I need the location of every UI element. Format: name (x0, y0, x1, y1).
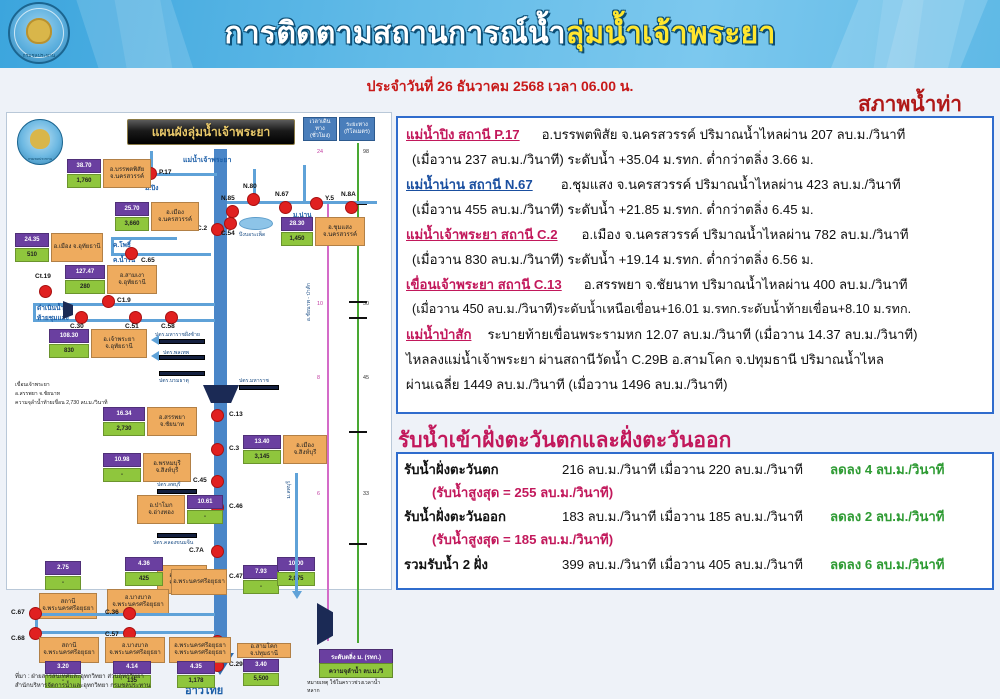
capacity-box: 3,660 (115, 217, 149, 231)
scale-tick (349, 431, 367, 433)
station-marker-ct19[interactable] (39, 285, 52, 298)
station-marker-c13[interactable] (211, 409, 224, 422)
dam-note-line3: ความจุลำน้ำท้ายเขื่อน 2,730 ลบ.ม./วินาที (15, 399, 108, 407)
station-name-c2[interactable]: แม่น้ำเจ้าพระยา สถานี C.2 (406, 227, 558, 242)
legend-capacity: ความจุลำน้ำ ลบ.ม./วิ (319, 663, 393, 678)
station-marker-c67[interactable] (29, 607, 42, 620)
capacity-box: - (45, 576, 81, 590)
intake-row-2-delta: ลดลง 6 ลบ.ม./วินาที (830, 554, 944, 575)
map-seal-label: กรมชลประทาน (18, 156, 62, 162)
capacity-box: 830 (49, 344, 89, 358)
level-box: 10.61 (187, 495, 223, 509)
flow-label: ดำเนินน้ำ (37, 303, 64, 313)
gate-label: ปตร.มหาราช (239, 377, 269, 385)
station-marker-c7a[interactable] (211, 545, 224, 558)
station-label-n85: N.85 (221, 195, 235, 202)
source-note: ที่มา : ฝ่ายสารสนเทศและอุทกวิทยา ส่วนอุท… (15, 673, 151, 690)
basin-schematic-panel: กรมชลประทาน แผนผังลุ่มน้ำเจ้าพระยา เวลาเ… (6, 112, 392, 590)
capacity-box: 5,500 (243, 673, 279, 686)
flow-entry-3-line1: เขื่อนเจ้าพระยา สถานี C.13อ.สรรพยา จ.ชัย… (406, 274, 908, 295)
scale-time-value: 6 (317, 491, 320, 497)
station-label-c67: C.67 (11, 609, 25, 616)
irrigation-gate (239, 385, 279, 390)
station-marker-c54[interactable] (224, 217, 237, 230)
scale-time-value: 10 (317, 301, 323, 307)
map-seal-icon: กรมชลประทาน (17, 119, 63, 165)
station-marker-c45[interactable] (211, 475, 224, 488)
flow-line (33, 303, 36, 321)
level-box: 25.70 (115, 202, 149, 216)
pasak-line3: ผ่านเฉลี่ย 1449 ลบ.ม./วินาที (เมื่อวาน 1… (406, 374, 727, 395)
scale-tick (349, 543, 367, 545)
capacity-box: 3,145 (243, 450, 281, 464)
capacity-box: 280 (65, 280, 105, 294)
gate-label: ปตร.มหาราชฝั่งซ้าย (155, 331, 200, 339)
pasak-line1: แม่น้ำป่าสักระบายท้ายเขื่อนพระรามหก 12.0… (406, 324, 917, 345)
flow-arrow-icon (151, 335, 159, 345)
flow-entry-2-line2: (เมื่อวาน 830 ลบ.ม./วินาที) ระดับน้ำ +19… (412, 249, 814, 270)
capacity-box: 425 (125, 572, 163, 586)
flow-entry-3-detail: อ.สรรพยา จ.ชัยนาท ปริมาณน้ำไหลผ่าน 400 ล… (584, 277, 908, 292)
flow-entry-0-line2: (เมื่อวาน 237 ลบ.ม./วินาที) ระดับน้ำ +35… (412, 149, 814, 170)
station-marker-n80[interactable] (247, 193, 260, 206)
lake-label: บึงบอระเพ็ด (239, 231, 265, 239)
dateline: ประจำวันที่ 26 ธันวาคม 2568 เวลา 06.00 น… (0, 76, 1000, 98)
intake-section-box: รับน้ำฝั่งตะวันตก 216 ลบ.ม./วินาที เมื่อ… (396, 452, 994, 590)
flow-line (295, 473, 298, 593)
place-box: อ.เมือง จ.นครสวรรค์ (151, 202, 199, 231)
main-river-label: แม่น้ำเจ้าพระยา (183, 155, 231, 166)
station-label-c65: C.65 (141, 257, 155, 264)
source-line-2: สำนักบริหารจัดการน้ำและอุทกวิทยา กรมชลปร… (15, 682, 151, 691)
flow-arrow-icon (151, 351, 159, 361)
intake-row-2-label: รวมรับน้ำ 2 ฝั่ง (404, 554, 488, 575)
station-label-p17: P.17 (159, 169, 172, 176)
level-box: 4.36 (125, 557, 163, 571)
pasak-detail: ระบายท้ายเขื่อนพระรามหก 12.07 ลบ.ม./วินา… (487, 327, 917, 342)
station-name-pasak[interactable]: แม่น้ำป่าสัก (406, 327, 471, 342)
place-box: อ.เมือง จ.อุทัยธานี (51, 233, 103, 262)
capacity-box: - (187, 510, 223, 524)
place-box: อ.บางบาล จ.พระนครศรีอยุธยา (105, 637, 165, 663)
branch-vertical-label: อ.ชัยนาท - ป่าสัก (305, 283, 313, 321)
flow-entry-1-detail: อ.ชุมแสง จ.นครสวรรค์ ปริมาณน้ำไหลผ่าน 42… (561, 177, 901, 192)
place-box: อ.เจ้าพระยา จ.อุทัยธานี (91, 329, 147, 358)
station-marker-y5[interactable] (310, 197, 323, 210)
page-title-highlight: ลุ่มน้ำเจ้าพระยา (566, 17, 776, 50)
intake-row-1-value: 183 ลบ.ม./วินาที เมื่อวาน 185 ลบ.ม./วินา… (562, 506, 803, 527)
intake-row-2-value: 399 ลบ.ม./วินาที เมื่อวาน 405 ลบ.ม./วินา… (562, 554, 803, 575)
gate-label: ปตร.พลเทพ (163, 349, 189, 357)
station-marker-n85[interactable] (226, 205, 239, 218)
scale-distance-value: 50 (363, 301, 369, 307)
legend-travel-time: เวลาเดินทาง (ชั่วโมง) (303, 117, 337, 141)
scale-time-value: 24 (317, 149, 323, 155)
legend-note: หมายเหตุ ใช้ในคราวช่วงเวลาน้ำหลาก (307, 679, 391, 695)
level-box: 24.35 (15, 233, 49, 247)
dam-note-line1: เขื่อนเจ้าพระยา (15, 381, 50, 389)
capacity-box: 1,450 (281, 232, 313, 246)
station-marker-n67[interactable] (279, 201, 292, 214)
station-label-n67: N.67 (275, 191, 289, 198)
station-label-c68: C.68 (11, 635, 25, 642)
legend-dam-symbol (317, 603, 333, 645)
place-box: อ.ป่าโมก จ.อ่างทอง (137, 495, 185, 524)
station-name-c13[interactable]: เขื่อนเจ้าพระยา สถานี C.13 (406, 277, 562, 292)
intake-row-0-sub: (รับน้ำสูงสุด = 255 ลบ.ม./วินาที) (432, 482, 613, 503)
time-scale-line (327, 201, 329, 641)
station-marker-c19[interactable] (102, 295, 115, 308)
flow-entry-2-detail: อ.เมือง จ.นครสวรรค์ ปริมาณน้ำไหลผ่าน 782… (582, 227, 909, 242)
scale-distance-value: 45 (363, 375, 369, 381)
level-box: 13.40 (243, 435, 281, 449)
station-label-c7a: C.7A (189, 547, 204, 554)
flow-entry-2-line1: แม่น้ำเจ้าพระยา สถานี C.2อ.เมือง จ.นครสว… (406, 224, 909, 245)
chao-phraya-dam-symbol (203, 385, 239, 403)
gate-label: ปตร.คลองขนมจีน (153, 539, 193, 547)
station-label-c47: C.47 (229, 573, 243, 580)
capacity-box: - (103, 468, 141, 482)
place-box: อ.เมือง จ.สิงห์บุรี (283, 435, 327, 464)
station-marker-c36[interactable] (123, 607, 136, 620)
branch-vertical-label: ม.ลพบุรี (285, 481, 293, 499)
flow-section-box: แม่น้ำปิง สถานี P.17อ.บรรพตพิสัย จ.นครสว… (396, 116, 994, 414)
station-label-c58: C.58 (161, 323, 175, 330)
station-label-ct19: Ct.19 (35, 273, 51, 280)
place-box: อ.สามเงา จ.อุทัยธานี (107, 265, 157, 294)
capacity-box: 510 (15, 248, 49, 262)
gate-label: ปตร.บรมธาตุ (159, 377, 189, 385)
station-label-n80: N.80 (243, 183, 257, 190)
intake-row-0-delta: ลดลง 4 ลบ.ม./วินาที (830, 459, 944, 480)
page-title: การติดตามสถานการณ์น้ำลุ่มน้ำเจ้าพระยา (0, 10, 1000, 57)
station-label-c54: C.54 (221, 230, 235, 237)
irrigation-gate (159, 339, 205, 344)
scale-distance-value: 98 (363, 149, 369, 155)
place-box: อ.บรรพตพิสัย จ.นครสวรรค์ (103, 159, 151, 188)
level-box: 127.47 (65, 265, 105, 279)
place-box: อ.พรหมบุรี จ.สิงห์บุรี (143, 453, 191, 482)
scale-distance-value: 33 (363, 491, 369, 497)
level-box: 2.75 (45, 561, 81, 575)
station-marker-n8a[interactable] (345, 201, 358, 214)
flow-line (303, 165, 306, 203)
capacity-box: - (243, 580, 279, 594)
flow-entry-1-line2: (เมื่อวาน 455 ลบ.ม./วินาที) ระดับน้ำ +21… (412, 199, 814, 220)
intake-row-1-delta: ลดลง 2 ลบ.ม./วินาที (830, 506, 944, 527)
flow-entry-1-line1: แม่น้ำน่าน สถานี N.67อ.ชุมแสง จ.นครสวรรค… (406, 174, 901, 195)
page-header: กรมชลประทาน การติดตามสถานการณ์น้ำลุ่มน้ำ… (0, 0, 1000, 68)
intake-row-1-sub: (รับน้ำสูงสุด = 185 ลบ.ม./วินาที) (432, 529, 613, 550)
irrigation-gate (159, 371, 205, 376)
intake-row-0-value: 216 ลบ.ม./วินาที เมื่อวาน 220 ลบ.ม./วินา… (562, 459, 803, 480)
capacity-box: 2,730 (103, 422, 145, 436)
station-label-c45: C.45 (193, 477, 207, 484)
station-marker-c3[interactable] (211, 443, 224, 456)
flow-arrow-icon (292, 591, 302, 599)
level-box: 38.70 (67, 159, 101, 173)
level-box: 4.35 (177, 661, 215, 674)
level-box: 108.30 (49, 329, 89, 343)
irrigation-gate (157, 489, 197, 494)
level-box: 16.34 (103, 407, 145, 421)
pasak-line2: ไหลลงแม่น้ำเจ้าพระยา ผ่านสถานีวัดน้ำ C.2… (406, 349, 884, 370)
flow-entry-0-line1: แม่น้ำปิง สถานี P.17อ.บรรพตพิสัย จ.นครสว… (406, 124, 905, 145)
place-box: อ.สามโคก จ.ปทุมธานี (237, 643, 291, 658)
station-label-c3: C.3 (229, 445, 239, 452)
station-label-c19: C1.9 (117, 297, 131, 304)
place-box: อ.พระนครศรีอยุธยา จ.พระนครศรีอยุธยา (169, 637, 231, 663)
bueng-boraphet-lake (239, 217, 273, 230)
station-marker-c65[interactable] (125, 247, 138, 260)
place-box: อ.สรรพยา จ.ชัยนาท (147, 407, 197, 436)
level-box: 10.98 (103, 453, 141, 467)
capacity-box: 1,760 (67, 174, 101, 188)
station-name-n67[interactable]: แม่น้ำน่าน สถานี N.67 (406, 177, 533, 192)
scale-tick (349, 317, 367, 319)
gate-label: ปตร.ลพบุรี (157, 481, 181, 489)
legend-water-level: ระดับตลิ่ง ม. (รทก.) (319, 649, 393, 664)
scale-time-value: 8 (317, 375, 320, 381)
station-label-n8a: N.8A (341, 191, 356, 198)
page-title-main: การติดตามสถานการณ์น้ำ (224, 17, 565, 50)
irrigation-gate (157, 533, 197, 538)
level-box: 28.30 (281, 217, 313, 231)
station-label-c13: C.13 (229, 411, 243, 418)
station-label-c36: C.36 (105, 609, 119, 616)
map-banner-title: แผนผังลุ่มน้ำเจ้าพระยา (127, 119, 295, 145)
dam-note-line2: อ.สรรพยา จ.ชัยนาท (15, 390, 60, 398)
station-label-c46: C.46 (229, 503, 243, 510)
capacity-box: 1,178 (177, 675, 215, 688)
intake-row-0-label: รับน้ำฝั่งตะวันตก (404, 459, 499, 480)
level-box: 7.93 (243, 565, 279, 579)
source-line-1: ที่มา : ฝ่ายสารสนเทศและอุทกวิทยา ส่วนอุท… (15, 673, 151, 682)
legend-distance: ระยะทาง (กิโลเมตร) (339, 117, 375, 141)
flow-entry-0-detail: อ.บรรพตพิสัย จ.นครสวรรค์ ปริมาณน้ำไหลผ่า… (542, 127, 906, 142)
place-box: อ.พระนครศรีอยุธยา (171, 569, 227, 595)
flow-entry-3-line2: (เมื่อวาน 450 ลบ.ม./วินาที)ระดับน้ำเหนือ… (412, 299, 911, 319)
level-box: 3.40 (243, 659, 279, 672)
intake-row-1-label: รับน้ำฝั่งตะวันออก (404, 506, 506, 527)
station-label-y5: Y.5 (325, 195, 334, 202)
place-box: สถานี จ.พระนครศรีอยุธยา (39, 637, 99, 663)
place-box: อ.ชุมแสง จ.นครสวรรค์ (315, 217, 365, 246)
station-name-p17[interactable]: แม่น้ำปิง สถานี P.17 (406, 127, 520, 142)
